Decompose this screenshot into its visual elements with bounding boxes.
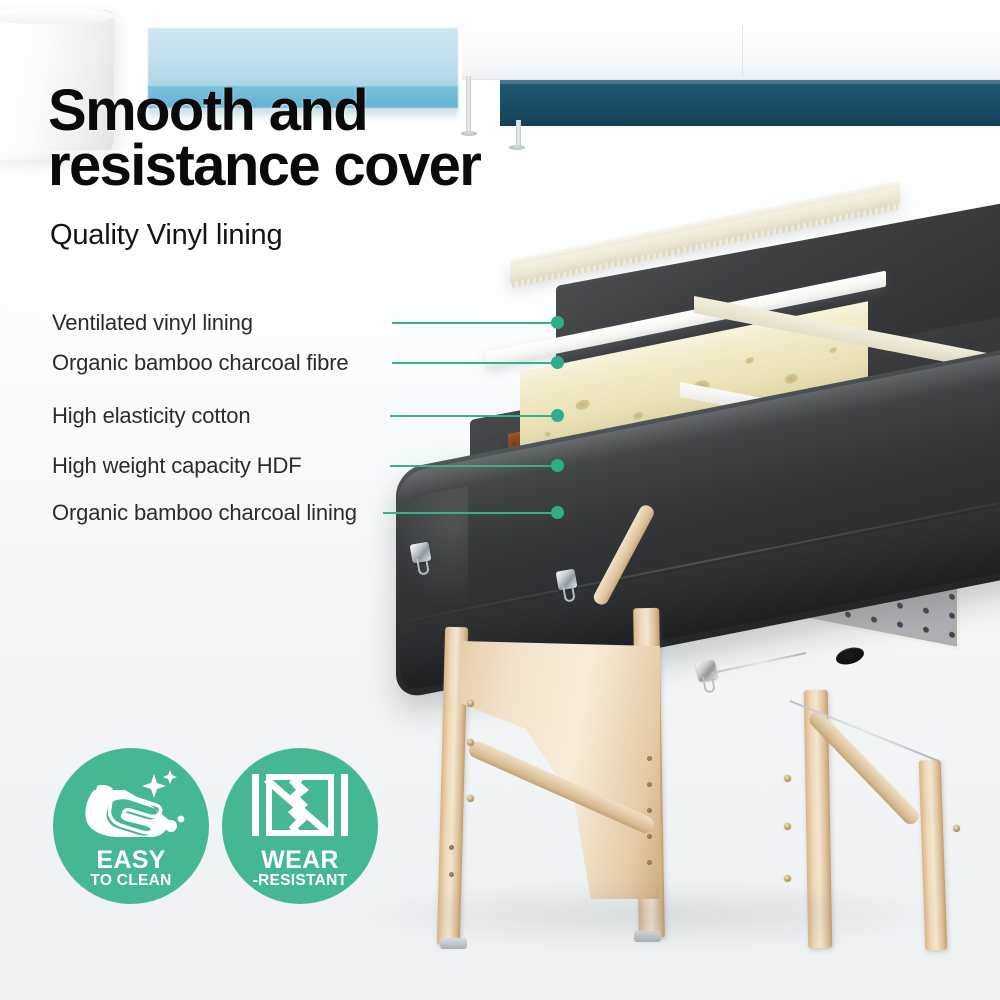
- feature-leader-dot: [551, 316, 564, 329]
- feature-leader-line: [392, 362, 552, 364]
- torn-fabric-crossed-icon: [222, 768, 378, 844]
- feature-leader-line: [390, 465, 552, 467]
- feature-label-organic-bamboo-charcoal-fibre: Organic bamboo charcoal fibre: [52, 350, 348, 376]
- feature-leader-dot: [551, 356, 564, 369]
- feature-leader-dot: [551, 506, 564, 519]
- badge-subtitle: -RESISTANT: [222, 872, 378, 890]
- feature-label-high-elasticity-cotton: High elasticity cotton: [52, 403, 250, 429]
- infographic-canvas: Smooth and resistance cover Quality Viny…: [0, 0, 1000, 1000]
- feature-label-organic-bamboo-charcoal-lining: Organic bamboo charcoal lining: [52, 500, 357, 526]
- badge-title: WEAR: [222, 846, 378, 875]
- badge-easy-to-clean: EASY TO CLEAN: [53, 748, 209, 904]
- feature-label-ventilated-vinyl-lining: Ventilated vinyl lining: [52, 310, 253, 336]
- feature-leader-line: [392, 322, 552, 324]
- feature-leader-line: [390, 415, 552, 417]
- badge-title: EASY: [53, 846, 209, 875]
- feature-leader-line: [383, 512, 553, 514]
- feature-leader-dot: [551, 459, 564, 472]
- badge-subtitle: TO CLEAN: [53, 872, 209, 890]
- hand-wiping-cloth-icon: [53, 768, 209, 844]
- feature-label-high-weight-capacity-hdf: High weight capacity HDF: [52, 453, 302, 479]
- badge-wear-resistant: WEAR -RESISTANT: [222, 748, 378, 904]
- feature-leader-dot: [551, 409, 564, 422]
